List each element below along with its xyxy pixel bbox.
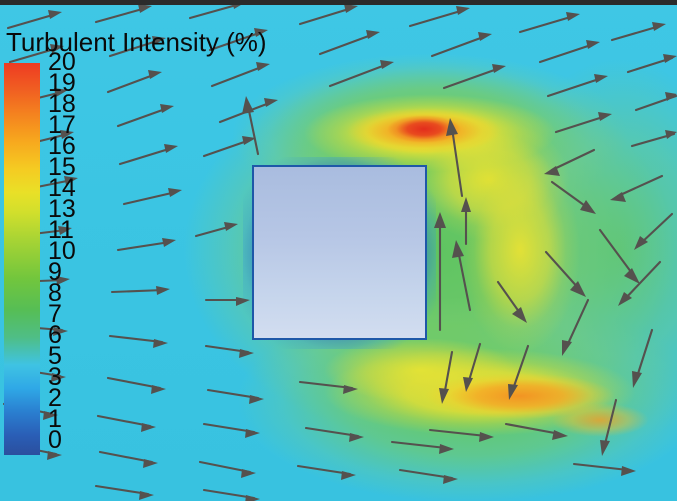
vector-arrow	[4, 0, 677, 501]
turbulent-intensity-colorbar	[4, 63, 40, 455]
colorbar-title: Turbulent Intensity (%)	[6, 27, 267, 58]
colorbar-tick-labels: 20191817161514131110987653210	[48, 52, 94, 451]
cfd-contour-figure: Turbulent Intensity (%) 2019181716151413…	[0, 0, 677, 501]
figure-top-border	[0, 0, 677, 5]
colorbar-tick-0: 0	[48, 430, 94, 451]
velocity-vector-field	[0, 0, 677, 501]
